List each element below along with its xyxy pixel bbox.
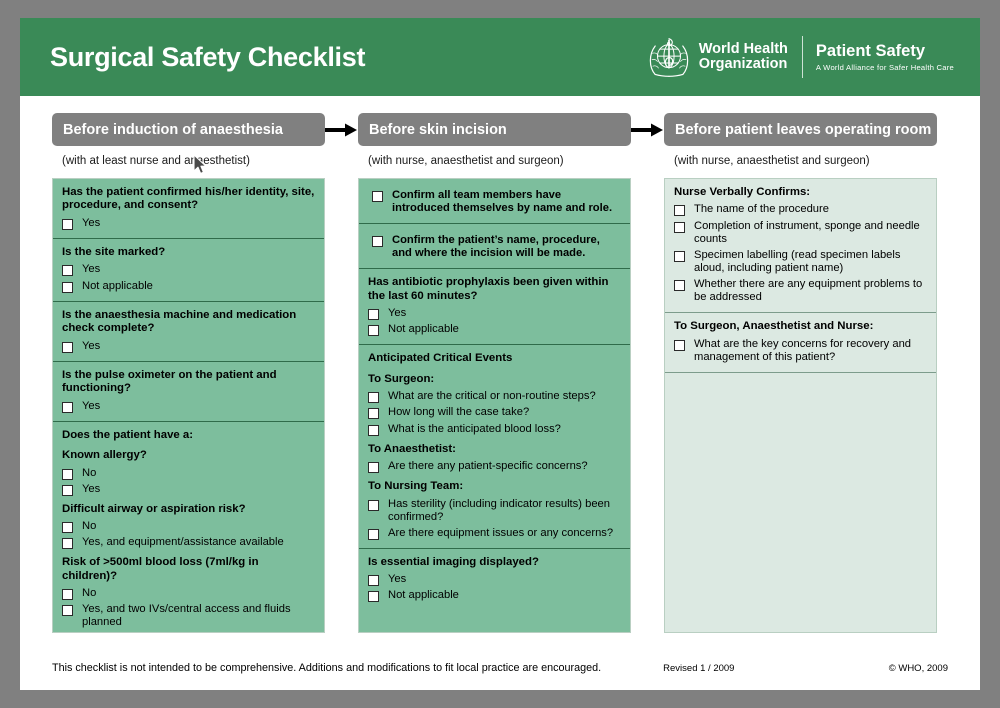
checkbox-icon[interactable] bbox=[62, 589, 73, 600]
who-wordmark-line1: World Health bbox=[699, 42, 788, 57]
option-label: Confirm all team members have introduced… bbox=[392, 189, 621, 215]
checklist-section: Nurse Verbally Confirms: The name of the… bbox=[665, 179, 936, 313]
section-question: Does the patient have a: bbox=[62, 429, 315, 442]
group-heading: To Anaesthetist: bbox=[368, 443, 621, 456]
option-label: Yes bbox=[82, 400, 100, 413]
footer-note: This checklist is not intended to be com… bbox=[52, 662, 601, 674]
checklist-columns: Has the patient confirmed his/her identi… bbox=[52, 178, 948, 633]
checkbox-icon[interactable] bbox=[368, 408, 379, 419]
section-question: Is the site marked? bbox=[62, 246, 315, 259]
phase-bar-before-induction[interactable]: Before induction of anaesthesia bbox=[52, 113, 325, 146]
option-label: Yes bbox=[388, 307, 406, 320]
checkbox-icon[interactable] bbox=[368, 575, 379, 586]
checklist-column-before-induction: Has the patient confirmed his/her identi… bbox=[52, 178, 325, 633]
checkbox-icon[interactable] bbox=[368, 392, 379, 403]
checkbox-icon[interactable] bbox=[368, 309, 379, 320]
checkbox-icon[interactable] bbox=[368, 462, 379, 473]
checklist-option[interactable]: No bbox=[62, 587, 315, 600]
page-footer: This checklist is not intended to be com… bbox=[52, 662, 948, 674]
phase-header-3: Before patient leaves operating room (wi… bbox=[664, 113, 937, 167]
option-label: Yes bbox=[82, 483, 100, 496]
checklist-option[interactable]: Whether there are any equipment problems… bbox=[674, 278, 927, 304]
checkbox-icon[interactable] bbox=[368, 325, 379, 336]
checklist-page: Surgical Safety Checklist bbox=[20, 18, 980, 690]
checklist-body: Before induction of anaesthesia (with at… bbox=[20, 96, 980, 633]
checklist-option[interactable]: The name of the procedure bbox=[674, 203, 927, 216]
who-wordmark: World Health Organization bbox=[699, 42, 788, 72]
who-emblem-icon bbox=[646, 34, 692, 80]
checklist-option[interactable]: Not applicable bbox=[368, 589, 621, 602]
option-label: Specimen labelling (read specimen labels… bbox=[694, 249, 927, 275]
checklist-option[interactable]: Yes bbox=[62, 217, 315, 230]
checklist-option[interactable]: Yes, and equipment/assistance available bbox=[62, 536, 315, 549]
checklist-option[interactable]: Are there any patient-specific concerns? bbox=[368, 460, 621, 473]
checkbox-icon[interactable] bbox=[62, 522, 73, 533]
checklist-option[interactable]: Yes bbox=[62, 340, 315, 353]
option-label: Completion of instrument, sponge and nee… bbox=[694, 220, 927, 246]
checklist-option[interactable]: Are there equipment issues or any concer… bbox=[368, 527, 621, 540]
checklist-option[interactable]: No bbox=[62, 520, 315, 533]
option-label: The name of the procedure bbox=[694, 203, 829, 216]
option-label: Yes bbox=[388, 573, 406, 586]
checkbox-icon[interactable] bbox=[62, 402, 73, 413]
who-wordmark-line2: Organization bbox=[699, 57, 788, 72]
option-label: How long will the case take? bbox=[388, 406, 529, 419]
patient-safety-logo: Patient Safety A World Alliance for Safe… bbox=[816, 42, 954, 72]
option-label: Yes, and two IVs/central access and flui… bbox=[82, 603, 315, 629]
checklist-section: Has the patient confirmed his/her identi… bbox=[53, 179, 324, 239]
option-label: What are the key concerns for recovery a… bbox=[694, 338, 927, 364]
footer-copyright: © WHO, 2009 bbox=[889, 663, 948, 674]
checkbox-icon[interactable] bbox=[62, 219, 73, 230]
checkbox-icon[interactable] bbox=[368, 500, 379, 511]
checkbox-icon[interactable] bbox=[62, 342, 73, 353]
phase-bar-label: Before patient leaves operating room bbox=[675, 122, 931, 138]
group-heading: To Surgeon: bbox=[368, 373, 621, 386]
section-question: Has antibiotic prophylaxis been given wi… bbox=[368, 276, 621, 303]
checkbox-icon[interactable] bbox=[62, 485, 73, 496]
section-question: Is the anaesthesia machine and medicatio… bbox=[62, 309, 315, 336]
footer-revision: Revised 1 / 2009 bbox=[663, 663, 734, 674]
option-label: Whether there are any equipment problems… bbox=[694, 278, 927, 304]
checklist-section: Is the anaesthesia machine and medicatio… bbox=[53, 302, 324, 362]
option-label: Yes, and equipment/assistance available bbox=[82, 536, 284, 549]
checklist-section: Does the patient have a: Known allergy? … bbox=[53, 422, 324, 638]
option-label: No bbox=[82, 520, 96, 533]
option-label: Yes bbox=[82, 263, 100, 276]
phase-bar-before-patient-leaves[interactable]: Before patient leaves operating room bbox=[664, 113, 937, 146]
phase-header-row: Before induction of anaesthesia (with at… bbox=[52, 113, 948, 167]
checklist-option[interactable]: How long will the case take? bbox=[368, 406, 621, 419]
checkbox-icon[interactable] bbox=[62, 605, 73, 616]
checklist-column-before-skin-incision: Confirm all team members have introduced… bbox=[358, 178, 631, 633]
checklist-option[interactable]: Not applicable bbox=[62, 280, 315, 293]
who-logo: World Health Organization bbox=[646, 34, 788, 80]
checkbox-icon[interactable] bbox=[62, 265, 73, 276]
phase-bar-label: Before skin incision bbox=[369, 122, 507, 138]
section-question: To Surgeon, Anaesthetist and Nurse: bbox=[674, 320, 927, 333]
phase-header-1: Before induction of anaesthesia (with at… bbox=[52, 113, 325, 167]
checklist-option[interactable]: Yes bbox=[62, 400, 315, 413]
arrow-right-icon bbox=[325, 123, 358, 137]
checkbox-icon[interactable] bbox=[368, 529, 379, 540]
checkbox-icon[interactable] bbox=[674, 205, 685, 216]
option-label: Yes bbox=[82, 340, 100, 353]
option-label: Are there any patient-specific concerns? bbox=[388, 460, 588, 473]
option-label: Yes bbox=[82, 217, 100, 230]
checklist-section: To Surgeon, Anaesthetist and Nurse: What… bbox=[665, 313, 936, 373]
checklist-option[interactable]: Yes bbox=[62, 483, 315, 496]
checklist-option[interactable]: Yes, and two IVs/central access and flui… bbox=[62, 603, 315, 629]
option-label: Are there equipment issues or any concer… bbox=[388, 527, 613, 540]
checklist-option[interactable]: Specimen labelling (read specimen labels… bbox=[674, 249, 927, 275]
group-heading: Risk of >500ml blood loss (7ml/kg in chi… bbox=[62, 556, 315, 583]
checklist-section: Confirm all team members have introduced… bbox=[359, 179, 630, 224]
checklist-option[interactable]: What is the anticipated blood loss? bbox=[368, 423, 621, 436]
section-question: Anticipated Critical Events bbox=[368, 352, 621, 365]
phase-subtitle: (with at least nurse and anaesthetist) bbox=[52, 155, 325, 167]
section-question: Is the pulse oximeter on the patient and… bbox=[62, 369, 315, 396]
patient-safety-tagline: A World Alliance for Safer Health Care bbox=[816, 63, 954, 72]
checkbox-icon[interactable] bbox=[62, 282, 73, 293]
checklist-option[interactable]: Confirm the patient’s name, procedure, a… bbox=[372, 234, 621, 260]
arrow-right-icon bbox=[631, 123, 664, 137]
checklist-section: Is the site marked? Yes Not applicable bbox=[53, 239, 324, 302]
phase-header-2: Before skin incision (with nurse, anaest… bbox=[358, 113, 631, 167]
checkbox-icon[interactable] bbox=[674, 222, 685, 233]
phase-subtitle: (with nurse, anaesthetist and surgeon) bbox=[664, 155, 937, 167]
checklist-option[interactable]: Has sterility (including indicator resul… bbox=[368, 498, 621, 524]
checkbox-icon[interactable] bbox=[674, 251, 685, 262]
checklist-option[interactable]: Yes bbox=[62, 263, 315, 276]
phase-bar-before-skin-incision[interactable]: Before skin incision bbox=[358, 113, 631, 146]
page-title: Surgical Safety Checklist bbox=[50, 42, 365, 73]
phase-bar-label: Before induction of anaesthesia bbox=[63, 122, 283, 138]
checkbox-icon[interactable] bbox=[674, 340, 685, 351]
section-question: Has the patient confirmed his/her identi… bbox=[62, 186, 315, 213]
page-header: Surgical Safety Checklist bbox=[20, 18, 980, 96]
who-patient-safety-logo: World Health Organization Patient Safety… bbox=[646, 30, 954, 84]
option-label: What are the critical or non-routine ste… bbox=[388, 390, 596, 403]
option-label: No bbox=[82, 467, 96, 480]
option-label: Not applicable bbox=[82, 280, 153, 293]
patient-safety-title: Patient Safety bbox=[816, 42, 954, 60]
group-heading: Known allergy? bbox=[62, 449, 315, 462]
checklist-section: Is essential imaging displayed? Yes Not … bbox=[359, 549, 630, 611]
checklist-option[interactable]: No bbox=[62, 467, 315, 480]
checkbox-icon[interactable] bbox=[372, 191, 383, 202]
checklist-section: Is the pulse oximeter on the patient and… bbox=[53, 362, 324, 422]
checklist-option[interactable]: Yes bbox=[368, 573, 621, 586]
checklist-option[interactable]: Completion of instrument, sponge and nee… bbox=[674, 220, 927, 246]
option-label: No bbox=[82, 587, 96, 600]
checklist-option[interactable]: What are the key concerns for recovery a… bbox=[674, 338, 927, 364]
checkbox-icon[interactable] bbox=[62, 538, 73, 549]
option-label: Has sterility (including indicator resul… bbox=[388, 498, 621, 524]
section-question: Nurse Verbally Confirms: bbox=[674, 186, 927, 199]
option-label: What is the anticipated blood loss? bbox=[388, 423, 561, 436]
option-label: Confirm the patient’s name, procedure, a… bbox=[392, 234, 621, 260]
group-heading: Difficult airway or aspiration risk? bbox=[62, 503, 315, 516]
option-label: Not applicable bbox=[388, 589, 459, 602]
checkbox-icon[interactable] bbox=[62, 469, 73, 480]
checklist-section: Has antibiotic prophylaxis been given wi… bbox=[359, 269, 630, 345]
checklist-option[interactable]: Confirm all team members have introduced… bbox=[372, 189, 621, 215]
checkbox-icon[interactable] bbox=[368, 591, 379, 602]
group-heading: To Nursing Team: bbox=[368, 480, 621, 493]
checkbox-icon[interactable] bbox=[372, 236, 383, 247]
checklist-option[interactable]: Not applicable bbox=[368, 323, 621, 336]
phase-subtitle: (with nurse, anaesthetist and surgeon) bbox=[358, 155, 631, 167]
checklist-column-before-patient-leaves: Nurse Verbally Confirms: The name of the… bbox=[664, 178, 937, 633]
checklist-section: Confirm the patient’s name, procedure, a… bbox=[359, 224, 630, 269]
checklist-option[interactable]: Yes bbox=[368, 307, 621, 320]
logo-divider bbox=[802, 36, 803, 78]
checkbox-icon[interactable] bbox=[368, 425, 379, 436]
checklist-option[interactable]: What are the critical or non-routine ste… bbox=[368, 390, 621, 403]
section-question: Is essential imaging displayed? bbox=[368, 556, 621, 569]
option-label: Not applicable bbox=[388, 323, 459, 336]
checkbox-icon[interactable] bbox=[674, 280, 685, 291]
checklist-section: Anticipated Critical Events To Surgeon: … bbox=[359, 345, 630, 548]
